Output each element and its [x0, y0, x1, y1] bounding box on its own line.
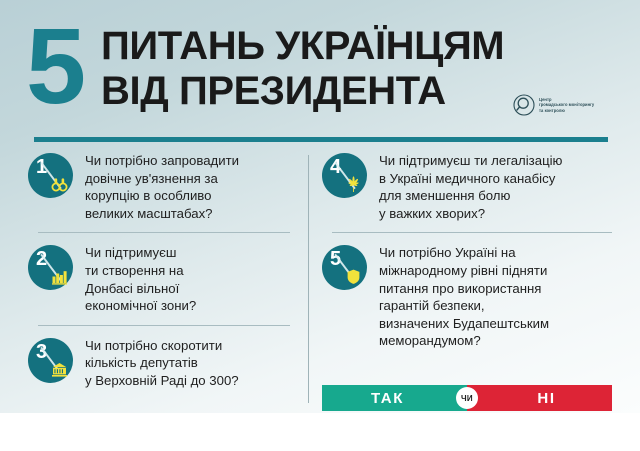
header-divider [34, 137, 608, 142]
question-text-5-line-1: Чи потрібно Україні на [379, 244, 549, 262]
questions-area: 1 Чи потрібно запровадити довічне ув'язн… [0, 151, 640, 413]
question-text-4-line-3: для зменшення болю [379, 187, 562, 205]
question-item-5: 5 Чи потрібно Україні на міжнародному рі… [322, 243, 618, 350]
question-text-3-line-1: Чи потрібно скоротити [85, 337, 239, 355]
organization-logo-text: Центр громадського моніторингу та контро… [539, 97, 594, 113]
question-separator [38, 232, 290, 233]
magnifier-circle-icon [513, 94, 535, 116]
handcuffs-icon [51, 176, 68, 193]
question-text-1-line-1: Чи потрібно запровадити [85, 152, 239, 170]
shield-icon [345, 268, 362, 285]
question-text-5-line-5: визначених Будапештським [379, 315, 549, 333]
question-item-4: 4 [322, 151, 618, 222]
poster-header: 5 ПИТАНЬ УКРАЇНЦЯМ ВІД ПРЕЗИДЕНТА Центр … [0, 0, 640, 131]
question-text-4-line-1: Чи підтримуєш ти легалізацію [379, 152, 562, 170]
question-item-1: 1 Чи потрібно запровадити довічне ув'язн… [28, 151, 296, 222]
question-text-1-line-4: великих масштабах? [85, 205, 239, 223]
question-text-1-line-2: довічне ув'язнення за [85, 170, 239, 188]
vote-yes-button[interactable]: ТАК [322, 385, 467, 411]
logo-line-3: та контролю [539, 108, 594, 113]
vote-no-button[interactable]: НІ [467, 385, 612, 411]
question-badge-1: 1 [28, 153, 73, 198]
question-text-2-line-4: економічної зони? [85, 297, 196, 315]
question-text-1-line-3: корупцію в особливо [85, 187, 239, 205]
vote-bar: ТАК НІ ЧИ [322, 385, 612, 411]
question-text-5-line-4: гарантій безпеки, [379, 297, 549, 315]
question-text-4-line-2: в Україні медичного канабісу [379, 170, 562, 188]
page-title-line-1: ПИТАНЬ УКРАЇНЦЯМ [101, 24, 606, 69]
question-badge-3: 3 [28, 338, 73, 383]
question-text-5-line-2: міжнародному рівні підняти [379, 262, 549, 280]
parliament-building-icon [51, 361, 68, 378]
question-text-5-line-3: питання про використання [379, 280, 549, 298]
question-item-3: 3 Чи пот [28, 336, 296, 390]
column-divider [308, 155, 309, 403]
questions-column-right: 4 [322, 151, 618, 350]
question-item-2: 2 Чи підтримуєш ти створення [28, 243, 296, 314]
question-separator [38, 325, 290, 326]
big-number-five: 5 [26, 14, 83, 118]
question-text-4: Чи підтримуєш ти легалізацію в Україні м… [379, 151, 562, 222]
question-text-2-line-3: Донбасі вільної [85, 280, 196, 298]
question-text-3: Чи потрібно скоротити кількість депутаті… [85, 336, 239, 390]
organization-logo: Центр громадського моніторингу та контро… [513, 94, 594, 116]
factory-icon [51, 268, 68, 285]
vote-or-label: ЧИ [456, 387, 478, 409]
question-badge-2: 2 [28, 245, 73, 290]
cannabis-leaf-icon [345, 176, 362, 193]
question-text-5-line-6: меморандумом? [379, 332, 549, 350]
question-text-2-line-1: Чи підтримуєш [85, 244, 196, 262]
question-text-2-line-2: ти створення на [85, 262, 196, 280]
question-text-4-line-4: у важких хворих? [379, 205, 562, 223]
infographic-poster: 5 ПИТАНЬ УКРАЇНЦЯМ ВІД ПРЕЗИДЕНТА Центр … [0, 0, 640, 413]
question-separator [332, 232, 612, 233]
question-text-3-line-3: у Верховній Раді до 300? [85, 372, 239, 390]
question-text-5: Чи потрібно Україні на міжнародному рівн… [379, 243, 549, 350]
question-badge-4: 4 [322, 153, 367, 198]
question-badge-5: 5 [322, 245, 367, 290]
question-text-1: Чи потрібно запровадити довічне ув'язнен… [85, 151, 239, 222]
questions-column-left: 1 Чи потрібно запровадити довічне ув'язн… [28, 151, 296, 390]
question-text-3-line-2: кількість депутатів [85, 354, 239, 372]
question-text-2: Чи підтримуєш ти створення на Донбасі ві… [85, 243, 196, 314]
